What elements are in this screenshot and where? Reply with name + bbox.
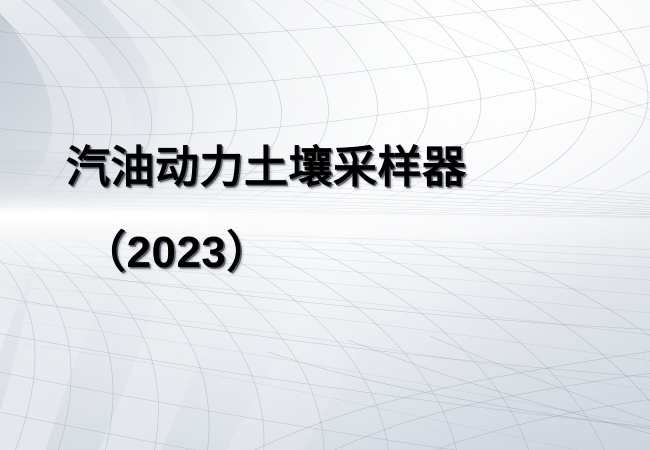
slide-subtitle-year: （2023） [0,224,650,282]
title-block: 汽油动力土壤采样器 （2023） [0,140,650,282]
slide-title: 汽油动力土壤采样器 [0,140,650,196]
title-slide: 汽油动力土壤采样器 （2023） [0,0,650,450]
